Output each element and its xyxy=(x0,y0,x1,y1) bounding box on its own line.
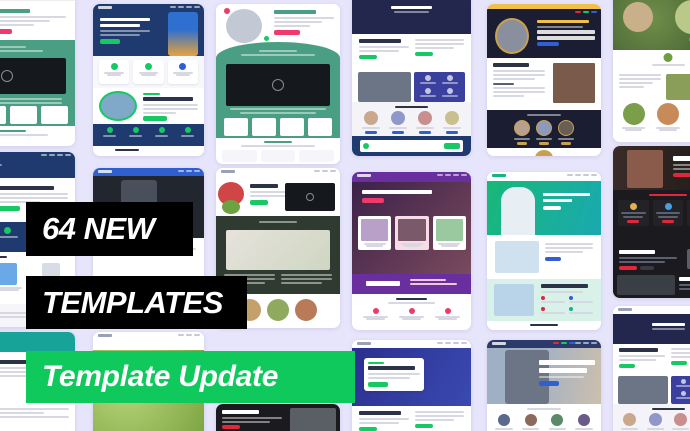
thumbnail-photographer[interactable] xyxy=(487,340,601,431)
headline-plate-count: 64 NEW xyxy=(26,202,193,256)
thumbnail-dental-teal[interactable] xyxy=(487,172,601,330)
thumbnail-business-indigo[interactable] xyxy=(352,340,471,431)
thumbnail-shop-right[interactable] xyxy=(613,306,690,431)
thumbnail-gym-crossfit[interactable] xyxy=(613,146,690,298)
thumbnail-medical-green[interactable] xyxy=(0,0,75,146)
headline-plate-templates: TEMPLATES xyxy=(26,276,247,329)
thumbnail-plumber-navy[interactable] xyxy=(93,4,204,156)
thumbnail-beauty-purple[interactable] xyxy=(352,172,471,330)
headline-plate-update: Template Update xyxy=(26,351,355,403)
thumbnail-coaching-gold[interactable] xyxy=(487,4,601,156)
thumbnail-freelance-white[interactable] xyxy=(216,4,340,164)
thumbnail-trainers-dark[interactable] xyxy=(216,404,340,431)
thumbnail-recipe-food[interactable] xyxy=(613,0,690,142)
headline-text-templates: TEMPLATES xyxy=(42,285,223,321)
headline-text-count: 64 NEW xyxy=(42,211,154,247)
promo-banner: 64 NEW TEMPLATES Template Update xyxy=(0,0,690,431)
thumbnail-agency-dark[interactable] xyxy=(352,0,471,156)
headline-text-update: Template Update xyxy=(42,360,278,394)
